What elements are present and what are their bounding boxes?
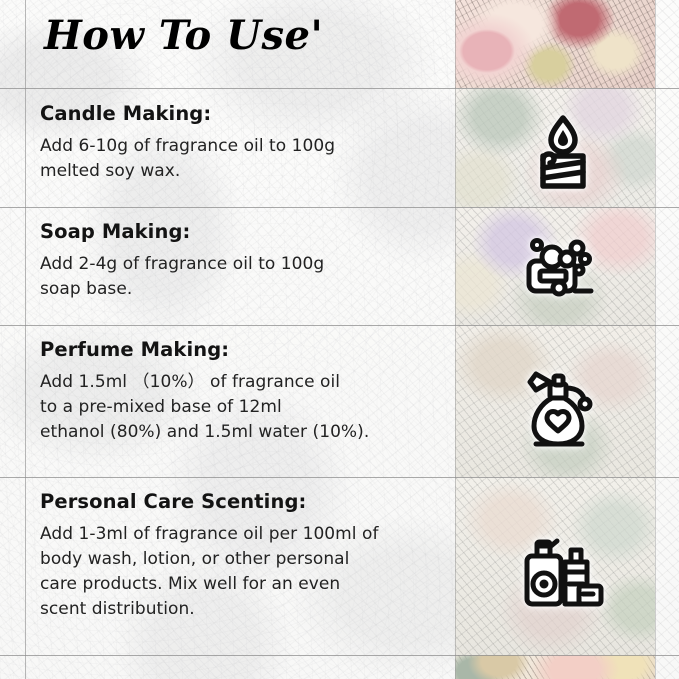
- section-personal-care-scenting: Personal Care Scenting: Add 1-3ml of fra…: [40, 490, 440, 622]
- section-body: Add 2-4g of fragrance oil to 100g soap b…: [40, 252, 440, 302]
- section-body: Add 6-10g of fragrance oil to 100g melte…: [40, 134, 440, 184]
- body-line: care products. Mix well for an even: [40, 572, 440, 597]
- floral-rose-bee-photo: [455, 0, 655, 88]
- divider-rule-5: [0, 655, 679, 656]
- body-line: ethanol (80%) and 1.5ml water (10%).: [40, 420, 440, 445]
- personal-care-products-icon: [505, 525, 620, 617]
- section-heading: Soap Making:: [40, 220, 440, 243]
- page-title: How To Use': [44, 12, 323, 59]
- section-soap-making: Soap Making: Add 2-4g of fragrance oil t…: [40, 220, 440, 302]
- body-line: to a pre-mixed base of 12ml: [40, 395, 440, 420]
- section-body: Add 1-3ml of fragrance oil per 100ml of …: [40, 522, 440, 622]
- right-margin-strip: [655, 0, 679, 679]
- left-margin-rule: [25, 0, 26, 679]
- body-line: Add 1.5ml （10%） of fragrance oil: [40, 370, 440, 395]
- section-heading: Personal Care Scenting:: [40, 490, 440, 513]
- how-to-use-infographic: How To Use' Candle Making: Add 6-10g of …: [0, 0, 679, 679]
- candle-icon: [505, 112, 620, 192]
- perfume-bottle-icon: [505, 365, 620, 457]
- section-perfume-making: Perfume Making: Add 1.5ml （10%） of fragr…: [40, 338, 440, 445]
- floral-bottom-photo: [455, 655, 655, 679]
- body-line: Add 6-10g of fragrance oil to 100g: [40, 134, 440, 159]
- divider-rule-1: [0, 88, 679, 89]
- body-line: soap base.: [40, 277, 440, 302]
- body-line: body wash, lotion, or other personal: [40, 547, 440, 572]
- section-heading: Candle Making:: [40, 102, 440, 125]
- body-line: scent distribution.: [40, 597, 440, 622]
- body-line: Add 1-3ml of fragrance oil per 100ml of: [40, 522, 440, 547]
- body-line: melted soy wax.: [40, 159, 440, 184]
- soap-bar-icon: [505, 230, 620, 308]
- section-body: Add 1.5ml （10%） of fragrance oil to a pr…: [40, 370, 440, 445]
- section-heading: Perfume Making:: [40, 338, 440, 361]
- divider-rule-3: [0, 325, 679, 326]
- divider-rule-4: [0, 477, 679, 478]
- section-candle-making: Candle Making: Add 6-10g of fragrance oi…: [40, 102, 440, 184]
- divider-rule-2: [0, 207, 679, 208]
- right-margin-rule: [655, 0, 656, 679]
- column-divider-rule: [455, 0, 456, 679]
- body-line: Add 2-4g of fragrance oil to 100g: [40, 252, 440, 277]
